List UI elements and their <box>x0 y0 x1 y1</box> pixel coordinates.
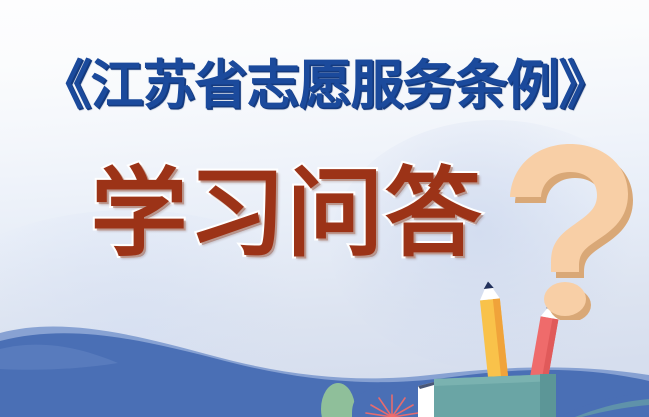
page-title: 《江苏省志愿服务条例》 <box>0 58 649 114</box>
poster-canvas: 《江苏省志愿服务条例》 学习问答 <box>0 0 649 417</box>
page-subtitle: 学习问答 <box>91 164 483 265</box>
subtitle-block: 学习问答 <box>0 158 649 298</box>
headline-block: 《江苏省志愿服务条例》 <box>0 58 649 114</box>
